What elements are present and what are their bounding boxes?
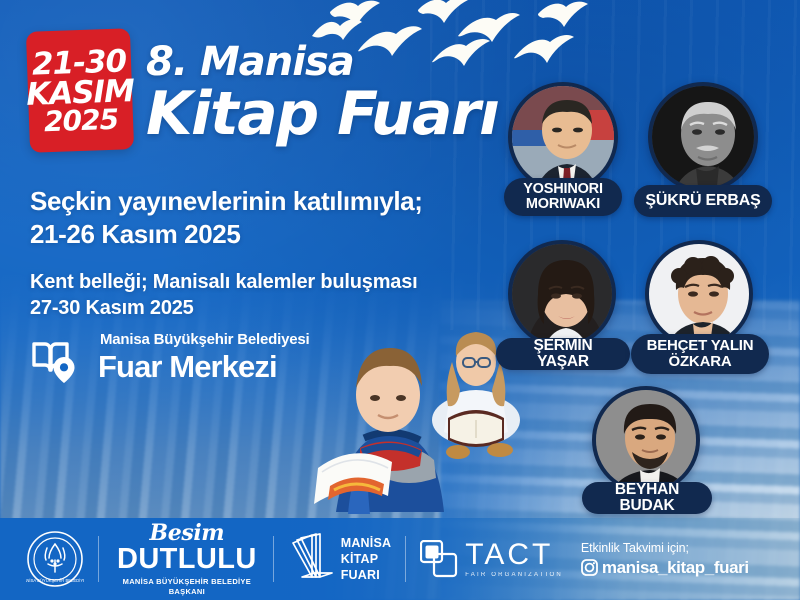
tact-squares-icon bbox=[420, 540, 458, 578]
speaker-photo-2 bbox=[648, 82, 758, 192]
instagram-block[interactable]: Etkinlik Takvimi için; manisa_kitap_fuar… bbox=[581, 540, 749, 578]
footer-bar: MANİSA BÜYÜKŞEHİR BELEDİYESİ Besim DUTLU… bbox=[0, 518, 800, 600]
svg-text:MANİSA BÜYÜKŞEHİR BELEDİYESİ: MANİSA BÜYÜKŞEHİR BELEDİYESİ bbox=[26, 578, 84, 583]
mayor-logo: Besim DUTLULU MANİSA BÜYÜKŞEHİR BELEDİYE… bbox=[117, 522, 257, 596]
tact-logo: TACT FAIR ORGANIZATION bbox=[420, 540, 563, 578]
venue-text: Manisa Büyükşehir Belediyesi Fuar Merkez… bbox=[98, 332, 310, 383]
instagram-label: Etkinlik Takvimi için; bbox=[581, 540, 749, 557]
tact-name: TACT bbox=[465, 540, 563, 570]
tact-subtitle: FAIR ORGANIZATION bbox=[465, 572, 563, 578]
book-fair-logo-line3: FUARI bbox=[341, 567, 392, 583]
footer-divider-1 bbox=[98, 536, 99, 582]
instagram-icon bbox=[581, 559, 598, 576]
children-reading-photo bbox=[300, 300, 530, 515]
speaker-photo-4 bbox=[645, 240, 753, 348]
speaker-photo-3 bbox=[508, 240, 616, 348]
date-badge: 21-30 KASIM 2025 bbox=[26, 28, 134, 153]
tact-logo-text: TACT FAIR ORGANIZATION bbox=[465, 540, 563, 578]
venue-subtitle: Manisa Büyükşehir Belediyesi bbox=[98, 332, 310, 349]
date-badge-line3: 2025 bbox=[44, 107, 119, 136]
venue-block: Manisa Büyükşehir Belediyesi Fuar Merkez… bbox=[30, 332, 310, 383]
book-fair-logo-text: MANİSA KİTAP FUARI bbox=[341, 535, 392, 584]
mayor-last-name: DUTLULU bbox=[117, 545, 257, 574]
speaker-photo-5 bbox=[592, 386, 700, 494]
book-fair-logo-line1: MANİSA bbox=[341, 535, 392, 551]
headline-line-1: Seçkin yayınevlerinin katılımıyla; bbox=[30, 185, 423, 218]
poster-canvas: 21-30 KASIM 2025 8. Manisa Kitap Fuarı S… bbox=[0, 0, 800, 600]
speaker-card-4[interactable]: BEHÇET YALIN ÖZKARA bbox=[645, 240, 753, 348]
headline-line-2: 21-26 Kasım 2025 bbox=[30, 218, 423, 251]
speaker-card-5[interactable]: BEYHAN BUDAK bbox=[592, 386, 700, 494]
footer-divider-2 bbox=[273, 536, 274, 582]
open-book-location-pin-icon bbox=[30, 335, 86, 383]
poster-title: 8. Manisa Kitap Fuarı bbox=[146, 42, 498, 145]
speaker-name-badge-3: ŞERMİN YAŞAR bbox=[496, 338, 630, 370]
open-book-logo-icon bbox=[290, 533, 334, 585]
book-fair-logo-line2: KİTAP bbox=[341, 551, 392, 567]
instagram-handle-row[interactable]: manisa_kitap_fuari bbox=[581, 557, 749, 578]
title-line-1: 8. Manisa bbox=[146, 42, 498, 82]
speaker-name-badge-2: ŞÜKRÜ ERBAŞ bbox=[634, 185, 772, 217]
speaker-card-2[interactable]: ŞÜKRÜ ERBAŞ bbox=[648, 82, 758, 192]
speaker-card-1[interactable]: YOSHINORI MORIWAKI bbox=[508, 82, 618, 192]
venue-title: Fuar Merkezi bbox=[98, 350, 310, 383]
mayor-first-name: Besim bbox=[117, 522, 257, 544]
speaker-name-badge-5: BEYHAN BUDAK bbox=[582, 482, 712, 514]
sub-line-1: Kent belleği; Manisalı kalemler buluşmas… bbox=[30, 269, 423, 295]
speaker-name-badge-1: YOSHINORI MORIWAKI bbox=[504, 178, 622, 216]
speaker-name-badge-4: BEHÇET YALIN ÖZKARA bbox=[631, 334, 769, 374]
manisa-belediyesi-seal-icon: MANİSA BÜYÜKŞEHİR BELEDİYESİ bbox=[26, 530, 84, 588]
instagram-handle: manisa_kitap_fuari bbox=[602, 557, 749, 578]
mayor-title: MANİSA BÜYÜKŞEHİR BELEDİYE BAŞKANI bbox=[117, 577, 257, 596]
footer-divider-3 bbox=[405, 536, 406, 582]
book-fair-logo: MANİSA KİTAP FUARI bbox=[290, 533, 392, 585]
title-line-2: Kitap Fuarı bbox=[146, 84, 498, 145]
speaker-photo-1 bbox=[508, 82, 618, 192]
speaker-card-3[interactable]: ŞERMİN YAŞAR bbox=[508, 240, 616, 348]
